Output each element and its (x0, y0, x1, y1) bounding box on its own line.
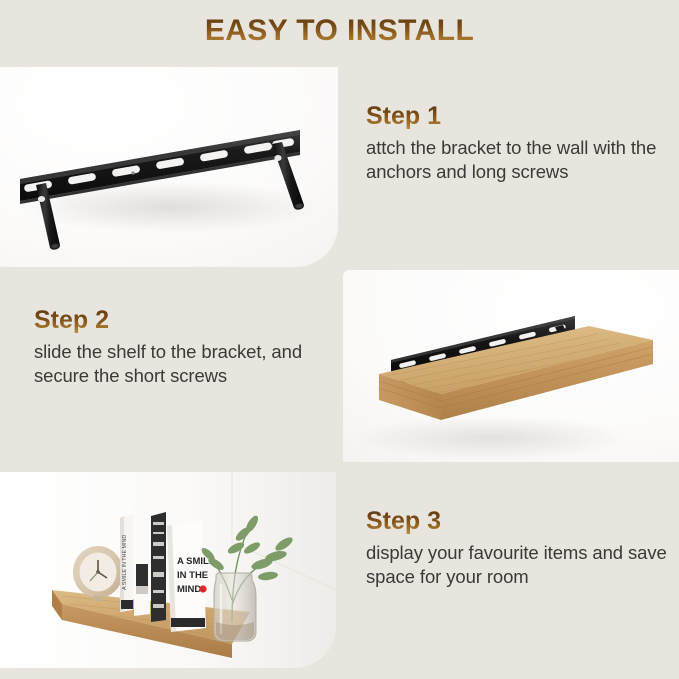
step-1-body: attch the bracket to the wall with the a… (366, 136, 666, 185)
step-1-image-panel (0, 67, 338, 267)
step-1-text: Step 1 attch the bracket to the wall wit… (366, 103, 666, 185)
step-3-heading: Step 3 (366, 508, 672, 535)
step-2-image-panel (343, 270, 679, 462)
book-cover-line-3: MIND (177, 584, 201, 595)
shelf-illustration (343, 270, 679, 462)
shelf-on-bracket-photo (343, 270, 679, 462)
styled-shelf-illustration: A SMILE IN THE MIND (0, 472, 336, 668)
book-spine-text-1: A SMILE IN THE MIND (122, 535, 128, 590)
bracket-right-screw (274, 155, 281, 161)
step-3-body: display your favourite items and save sp… (366, 541, 672, 590)
bracket-center-mark (131, 171, 134, 174)
wall-bracket-photo (0, 67, 338, 267)
book-cover-line-2: IN THE (177, 570, 208, 581)
step-3-image-panel: A SMILE IN THE MIND (0, 472, 336, 668)
book-cover-dot (199, 585, 206, 592)
bracket-illustration (0, 67, 338, 267)
step-2-heading: Step 2 (34, 307, 324, 334)
step-2-text: Step 2 slide the shelf to the bracket, a… (34, 307, 324, 389)
step-1-heading: Step 1 (366, 103, 666, 130)
step-3-text: Step 3 display your favourite items and … (366, 508, 672, 590)
infographic-root: EASY TO INSTALL (0, 0, 679, 679)
book-spine-2 (134, 504, 150, 616)
page-title: EASY TO INSTALL (0, 14, 679, 48)
styled-shelf-photo: A SMILE IN THE MIND (0, 472, 336, 668)
bracket-left-screw (38, 196, 45, 202)
step-2-body: slide the shelf to the bracket, and secu… (34, 340, 324, 389)
shelf-shadow (353, 416, 633, 460)
